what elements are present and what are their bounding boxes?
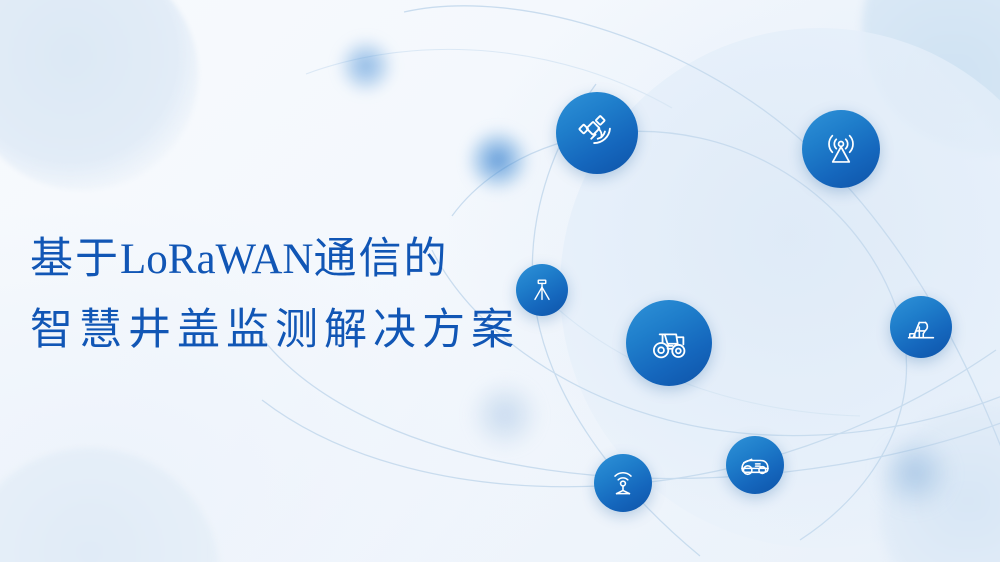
icon-node-radio-tower[interactable] [802,110,880,188]
icon-node-wireless-sensor[interactable] [594,454,652,512]
title-slide: 基于LoRaWAN通信的 智慧井盖监测解决方案 [0,0,1000,562]
icon-node-pumpjack[interactable] [890,296,952,358]
icon-node-survey-tripod[interactable] [516,264,568,316]
wireless-sensor-icon [606,466,640,500]
title-line-2: 智慧井盖监测解决方案 [30,299,590,362]
decor-dot-upper-left [338,38,394,94]
tractor-icon [646,320,692,366]
decor-blob-bottom-right [880,402,1000,562]
page-title: 基于LoRaWAN通信的 智慧井盖监测解决方案 [30,228,590,362]
icon-node-satellite[interactable] [556,92,638,174]
decor-blob-bottom-left [0,448,220,562]
icon-node-robot-mower[interactable] [726,436,784,494]
decor-blob-top-right [862,0,1000,154]
title-suffix: 通信的 [313,235,448,283]
title-prefix: 基于 [30,235,120,283]
icon-node-tractor[interactable] [626,300,712,386]
title-line-1: 基于LoRaWAN通信的 [30,228,590,291]
decor-blob-top-left [0,0,198,190]
robot-mower-icon [737,447,773,483]
decor-dot-lower-right [878,436,952,510]
survey-tripod-icon [527,275,557,305]
oil-pumpjack-icon [903,309,939,345]
decor-dot-upper-center [466,128,530,192]
satellite-dish-icon [574,110,620,156]
radio-tower-icon [818,126,864,172]
title-latin-lorawan: LoRaWAN [120,236,313,283]
decor-dot-lower-center [470,380,540,450]
